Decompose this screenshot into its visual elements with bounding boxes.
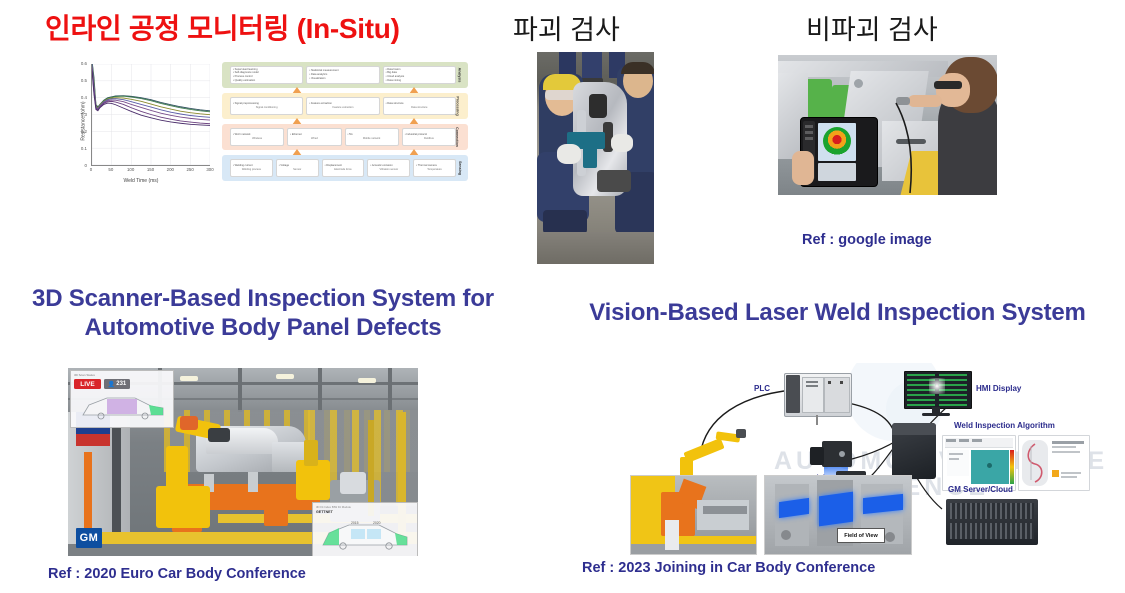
live-badge: LIVE xyxy=(74,379,101,389)
chart-y-tick: 0.3 xyxy=(73,112,87,117)
label-plc: PLC xyxy=(754,384,770,393)
car-scan-silhouette-icon xyxy=(77,389,169,425)
heading-3d-scanner-line1: 3D Scanner-Based Inspection System for xyxy=(8,284,518,313)
overlay-bottom-title: GETTNET xyxy=(316,510,333,514)
live-scan-overlay: 3D Scan Status LIVE 👤 231 xyxy=(70,370,174,428)
layer-card: • Welding currentWelding process xyxy=(230,159,273,176)
chart-x-tick: 50 xyxy=(104,167,118,172)
chart-y-tick: 0.1 xyxy=(73,146,87,151)
chart-plot-area xyxy=(91,64,210,166)
chart-x-axis-label: Weld Time (ms) xyxy=(66,178,216,184)
layer-card: • 5GMobile network xyxy=(345,128,399,145)
svg-text:2020: 2020 xyxy=(373,521,381,525)
nondestructive-test-photo xyxy=(778,55,997,195)
layer-row-sensing: • Welding currentWelding process• Voltag… xyxy=(222,155,468,181)
destructive-test-photo xyxy=(537,52,654,264)
layer-card: • Thermal cameraTemperature xyxy=(413,159,456,176)
layer-card-line: • Quality estimation xyxy=(233,79,300,83)
chart-x-tick: 150 xyxy=(144,167,158,172)
scan-result-overlay: 3D Fit Index BIW Fit Module GETTNET 2015… xyxy=(312,502,418,556)
server-rack xyxy=(946,499,1038,545)
layer-card-caption: Welding process xyxy=(233,168,270,172)
page-title-destructive-test: 파괴 검사 xyxy=(513,8,620,47)
layer-card-caption: Temperature xyxy=(416,168,453,172)
viewer-count-value: 231 xyxy=(116,381,126,387)
layer-side-label: Processing xyxy=(455,96,459,115)
chart-x-tick: 300 xyxy=(203,167,217,172)
hmi-monitor xyxy=(904,371,972,409)
layer-card: • Acoustic emissionVibration sensor xyxy=(367,159,410,176)
label-gm-server-cloud: GM Server/Cloud xyxy=(948,485,1013,494)
layer-card-line: • Visualization xyxy=(309,77,376,81)
resistance-weld-time-chart: Resistance (ohm) Weld Time (ms) 00.10.20… xyxy=(66,58,216,184)
chart-x-tick: 0 xyxy=(84,167,98,172)
layer-side-label: Sensing xyxy=(458,161,462,175)
vision-weld-inspection-diagram: AUTOMOTIVE CIRCLE CONFERENCE PLC xyxy=(624,363,1119,558)
layer-card: • Wi-Fi networkWireless xyxy=(230,128,284,145)
layer-row-analysis: • Supervised learning• Self-diagnosis mo… xyxy=(222,62,468,88)
layer-side-label: Analysis xyxy=(458,68,462,83)
label-weld-inspection-algorithm: Weld Inspection Algorithm xyxy=(954,421,1055,430)
layered-architecture-diagram: • Supervised learning• Self-diagnosis mo… xyxy=(222,60,470,184)
layer-card: • Feature extractionFeature extraction xyxy=(306,97,379,114)
car-scan-result-icon: 2015 2020 xyxy=(317,517,413,555)
field-of-view-badge: Field of View xyxy=(837,528,885,543)
layer-card-caption: Wired xyxy=(290,137,338,141)
layer-card-caption: Feature extraction xyxy=(309,106,376,110)
algorithm-card-2 xyxy=(1018,435,1090,491)
layer-card: • Data fusion• Big data• Cloud analysis•… xyxy=(383,66,456,83)
layer-card-caption: Mobile network xyxy=(348,137,396,141)
chart-x-tick: 250 xyxy=(183,167,197,172)
heading-3d-scanner-system: 3D Scanner-Based Inspection System for A… xyxy=(8,284,518,343)
caption-vision-ref: Ref : 2023 Joining in Car Body Conferenc… xyxy=(582,560,875,576)
chart-y-tick: 0.4 xyxy=(73,95,87,100)
chart-curves xyxy=(92,64,210,165)
viewer-count-badge: 👤 231 xyxy=(104,379,130,389)
layer-card-caption: Vibration sensor xyxy=(370,168,407,172)
gm-logo: GM xyxy=(76,528,102,548)
heading-3d-scanner-line2: Automotive Body Panel Defects xyxy=(8,313,518,342)
caption-ndt-ref: Ref : google image xyxy=(802,232,932,248)
layer-card-caption: Signal conditioning xyxy=(233,106,300,110)
layer-card-caption: Data structure xyxy=(386,106,453,110)
layer-card: • Statistical measurement• Data analytic… xyxy=(306,66,379,83)
probe-cable-icon xyxy=(778,55,997,195)
overlay-bottom-subtitle: 3D Fit Index BIW Fit Module xyxy=(316,505,351,509)
label-hmi-display: HMI Display xyxy=(976,384,1021,393)
algorithm-card-1 xyxy=(942,435,1016,491)
chart-x-tick: 200 xyxy=(163,167,177,172)
layer-card: • Data structureData structure xyxy=(383,97,456,114)
layer-row-processing: • Signal preprocessingSignal conditionin… xyxy=(222,93,468,119)
slide-root: 인라인 공정 모니터링 (In-Situ) 파괴 검사 비파괴 검사 Resis… xyxy=(0,0,1125,593)
chart-y-tick: 0.2 xyxy=(73,129,87,134)
vision-sensor-1 xyxy=(822,441,852,467)
field-of-view-photo: Field of View xyxy=(764,475,912,555)
gm-factory-photo: 3D Scan Status LIVE 👤 231 3D Fit Index B… xyxy=(68,368,418,556)
heading-vision-weld-system: Vision-Based Laser Weld Inspection Syste… xyxy=(560,298,1115,327)
layer-card: • Industrial protocolFieldbus xyxy=(402,128,456,145)
person-icon: 👤 xyxy=(108,381,115,388)
layer-card: • Supervised learning• Self-diagnosis mo… xyxy=(230,66,303,83)
layer-card: • DisplacementElectrode force xyxy=(322,159,365,176)
layer-row-connection: • Wi-Fi networkWireless• EthernetWired• … xyxy=(222,124,468,150)
overlay-top-title: 3D Scan Status xyxy=(74,373,95,377)
page-title-nondestructive-test: 비파괴 검사 xyxy=(806,8,938,47)
layer-card: • VoltageSensor xyxy=(276,159,319,176)
caption-scanner-ref: Ref : 2020 Euro Car Body Conference xyxy=(48,566,306,582)
page-title-inline-monitoring: 인라인 공정 모니터링 (In-Situ) xyxy=(45,7,400,47)
layer-card-line: • Data mining xyxy=(386,79,453,83)
chart-y-axis-label: Resistance (ohm) xyxy=(81,101,87,140)
layer-card: • Signal preprocessingSignal conditionin… xyxy=(230,97,303,114)
chart-y-tick: 0.6 xyxy=(73,61,87,66)
layer-card-caption: Electrode force xyxy=(325,168,362,172)
production-line-photo xyxy=(630,475,757,555)
layer-card-caption: Fieldbus xyxy=(405,137,453,141)
layer-card: • EthernetWired xyxy=(287,128,341,145)
chart-x-tick: 100 xyxy=(124,167,138,172)
layer-side-label: Connection xyxy=(455,127,459,147)
svg-text:2015: 2015 xyxy=(351,521,359,525)
layer-card-caption: Sensor xyxy=(279,168,316,172)
chart-y-tick: 0.5 xyxy=(73,78,87,83)
layer-card-caption: Wireless xyxy=(233,137,281,141)
